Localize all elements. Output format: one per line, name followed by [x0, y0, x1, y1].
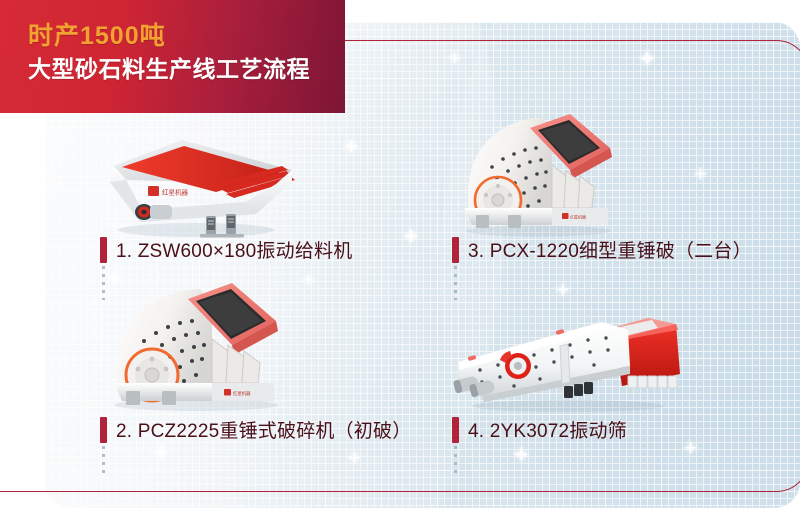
poster-stage: 红星机器 1. ZSW600×180振动给料机	[0, 0, 800, 530]
dotted-guide-line	[454, 446, 457, 476]
item-label-3: 3. PCX-1220细型重锤破（二台）	[452, 236, 752, 263]
machine-image-vibrating-feeder: 红星机器	[96, 126, 296, 238]
marker-bar	[100, 237, 107, 263]
machine-image-vibrating-screen	[452, 300, 684, 412]
marker-bar	[452, 237, 459, 263]
item-label-4: 4. 2YK3072振动筛	[452, 416, 627, 443]
marker-bar	[452, 417, 459, 443]
item-label-text: 4. 2YK3072振动筛	[468, 416, 627, 443]
title-banner: 时产1500吨 大型砂石料生产线工艺流程	[0, 0, 345, 113]
item-label-text: 1. ZSW600×180振动给料机	[116, 236, 352, 263]
machine-image-fine-hammer-crusher: 红星机器	[452, 112, 622, 237]
banner-line-2: 大型砂石料生产线工艺流程	[28, 56, 345, 84]
item-label-1: 1. ZSW600×180振动给料机	[100, 236, 352, 263]
svg-text:红星机器: 红星机器	[570, 213, 586, 219]
item-label-2: 2. PCZ2225重锤式破碎机（初破）	[100, 416, 411, 443]
banner-line-1: 时产1500吨	[28, 22, 345, 51]
item-label-text: 2. PCZ2225重锤式破碎机（初破）	[116, 416, 411, 443]
machine-image-heavy-hammer-crusher: 红星机器	[100, 283, 292, 411]
svg-text:红星机器: 红星机器	[162, 188, 189, 197]
item-label-text: 3. PCX-1220细型重锤破（二台）	[468, 236, 752, 263]
dotted-guide-line	[454, 266, 457, 300]
dotted-guide-line	[102, 446, 105, 476]
svg-text:红星机器: 红星机器	[233, 390, 251, 397]
marker-bar	[100, 417, 107, 443]
